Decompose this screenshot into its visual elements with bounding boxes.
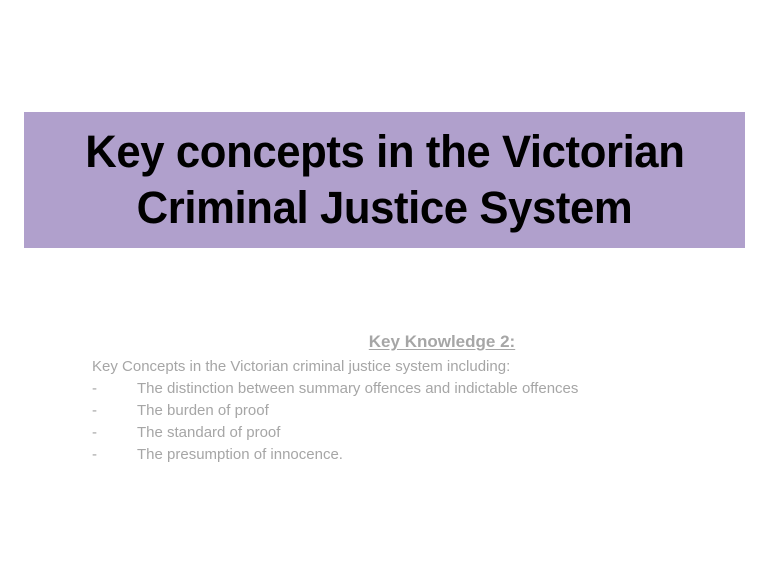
title-line-1: Key concepts in the Victorian [85, 124, 684, 180]
list-item: - The distinction between summary offenc… [92, 378, 692, 400]
list-item-label: The burden of proof [137, 400, 269, 422]
bullet-dash-icon: - [92, 400, 137, 422]
list-item-label: The standard of proof [137, 422, 280, 444]
bullet-dash-icon: - [92, 444, 137, 466]
list-item-label: The distinction between summary offences… [137, 378, 578, 400]
list-item: - The burden of proof [92, 400, 692, 422]
body-content: Key Knowledge 2: Key Concepts in the Vic… [92, 330, 692, 466]
key-knowledge-heading: Key Knowledge 2: [192, 330, 692, 354]
list-item-label: The presumption of innocence. [137, 444, 343, 466]
title-line-2: Criminal Justice System [137, 180, 633, 236]
list-item: - The standard of proof [92, 422, 692, 444]
bullet-dash-icon: - [92, 378, 137, 400]
list-item: - The presumption of innocence. [92, 444, 692, 466]
title-banner: Key concepts in the Victorian Criminal J… [24, 112, 745, 248]
slide-canvas: Key concepts in the Victorian Criminal J… [0, 0, 768, 576]
bullet-dash-icon: - [92, 422, 137, 444]
intro-line: Key Concepts in the Victorian criminal j… [92, 356, 692, 378]
